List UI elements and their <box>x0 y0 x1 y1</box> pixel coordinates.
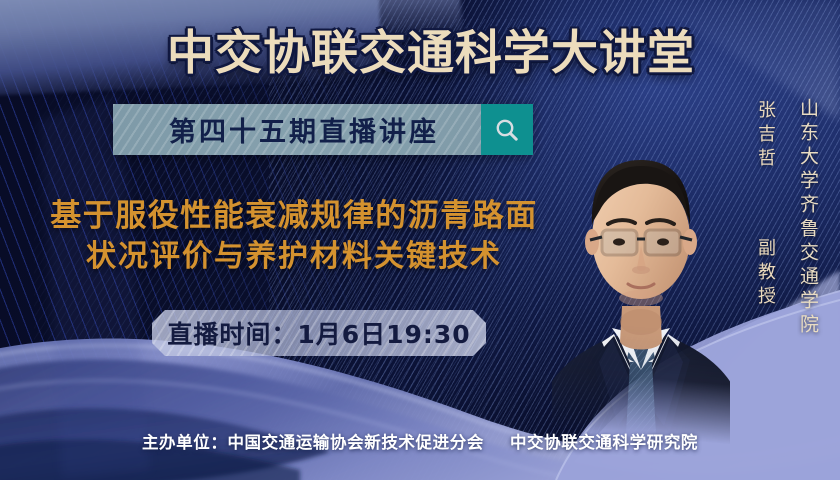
broadcast-time-panel: 直播时间：1月6日19:30 <box>152 310 486 356</box>
lecture-title-line-1: 基于服役性能衰减规律的沥青路面 <box>14 196 574 237</box>
speaker-name-rank: 张吉哲 副教授 <box>752 100 778 310</box>
broadcast-time-text: 直播时间：1月6日19:30 <box>167 315 470 351</box>
episode-bar: 第四十五期直播讲座 <box>113 104 533 155</box>
lecture-title: 基于服役性能衰减规律的沥青路面 状况评价与养护材料关键技术 <box>14 196 574 277</box>
live-lecture-poster: 中交协联交通科学大讲堂 第四十五期直播讲座 基于服役性能衰减规律的沥青路面 状况… <box>0 0 840 480</box>
footer-org-2: 中交协联交通科学研究院 <box>510 433 698 452</box>
speaker-photo <box>552 70 730 480</box>
episode-label: 第四十五期直播讲座 <box>113 104 481 155</box>
footer-prefix: 主办单位： <box>142 433 228 452</box>
speaker-rank: 副教授 <box>755 238 776 310</box>
speaker-name: 张吉哲 <box>755 100 776 172</box>
speaker-affiliation: 山东大学齐鲁交通学院 <box>795 98 822 338</box>
search-button[interactable] <box>481 104 533 155</box>
search-icon <box>493 116 521 144</box>
footer-org-1: 中国交通运输协会新技术促进分会 <box>227 433 484 452</box>
lecture-title-line-2: 状况评价与养护材料关键技术 <box>14 237 574 277</box>
footer-organizers: 主办单位：中国交通运输协会新技术促进分会中交协联交通科学研究院 <box>0 429 840 453</box>
